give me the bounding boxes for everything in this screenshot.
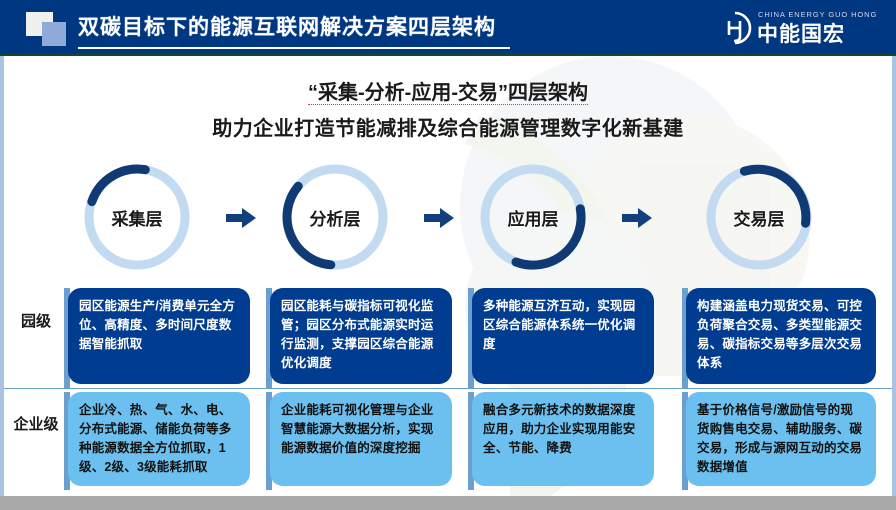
header-bar: 双碳目标下的能源互联网解决方案四层架构 CHINA ENERGY GUO HON… <box>0 0 896 56</box>
card-park-collect[interactable]: 园区能源生产/消费单元全方位、高精度、多时间尺度数据智能抓取 <box>68 288 250 384</box>
card-park-analyze[interactable]: 园区能耗与碳指标可视化监管；园区分布式能源实时运行监测，支撑园区综合能源优化调度 <box>270 288 452 384</box>
ring-collect[interactable]: 采集层 <box>78 158 196 276</box>
row-label-enterprise: 企业级 <box>10 415 62 434</box>
ring-application-label: 应用层 <box>474 158 592 276</box>
title-underline <box>78 47 510 49</box>
ring-trading[interactable]: 交易层 <box>700 158 818 276</box>
ring-analyze[interactable]: 分析层 <box>276 158 394 276</box>
row-label-park: 园级 <box>10 312 62 331</box>
right-arrow-icon-2 <box>422 206 456 230</box>
page-title: 双碳目标下的能源互联网解决方案四层架构 <box>78 10 496 46</box>
headline-primary-text: “采集-分析-应用-交易”四层架构 <box>308 82 588 105</box>
ring-analyze-label: 分析层 <box>276 158 394 276</box>
right-arrow-icon-3 <box>620 206 654 230</box>
ring-application[interactable]: 应用层 <box>474 158 592 276</box>
right-arrow-icon-1 <box>224 206 258 230</box>
logo-chinese-text: 中能国宏 <box>757 18 845 48</box>
footer-bar <box>0 496 896 510</box>
slide-root: 双碳目标下的能源互联网解决方案四层架构 CHINA ENERGY GUO HON… <box>0 0 896 510</box>
company-logo: CHINA ENERGY GUO HONG 中能国宏 <box>718 8 878 48</box>
card-park-application[interactable]: 多种能源互济互动，实现园区综合能源体系统一优化调度 <box>472 288 654 384</box>
card-park-trading[interactable]: 构建涵盖电力现货交易、可控负荷聚合交易、多类型能源交易、碳指标交易等多层次交易体… <box>686 288 876 384</box>
row-divider <box>4 388 892 389</box>
card-enterprise-collect[interactable]: 企业冷、热、气、水、电、分布式能源、储能负荷等多种能源数据全方位抓取，1级、2级… <box>68 392 250 486</box>
headline-secondary: 助力企业打造节能减排及综合能源管理数字化新基建 <box>0 112 896 141</box>
card-enterprise-trading[interactable]: 基于价格信号/激励信号的现货购售电交易、辅助服务、碳交易，形成与源网互动的交易数… <box>686 392 876 486</box>
card-enterprise-application[interactable]: 融合多元新技术的数据深度应用，助力企业实现用能安全、节能、降费 <box>472 392 654 486</box>
layer-ring-row: 采集层 分析层 应用层 <box>0 158 896 278</box>
card-enterprise-analyze[interactable]: 企业能耗可视化管理与企业智慧能源大数据分析，实现能源数据价值的深度挖掘 <box>270 392 452 486</box>
ring-trading-label: 交易层 <box>700 158 818 276</box>
logo-mark-icon <box>718 11 752 45</box>
headline-primary: “采集-分析-应用-交易”四层架构 <box>0 76 896 105</box>
ring-collect-label: 采集层 <box>78 158 196 276</box>
square-icon-front <box>42 22 66 46</box>
